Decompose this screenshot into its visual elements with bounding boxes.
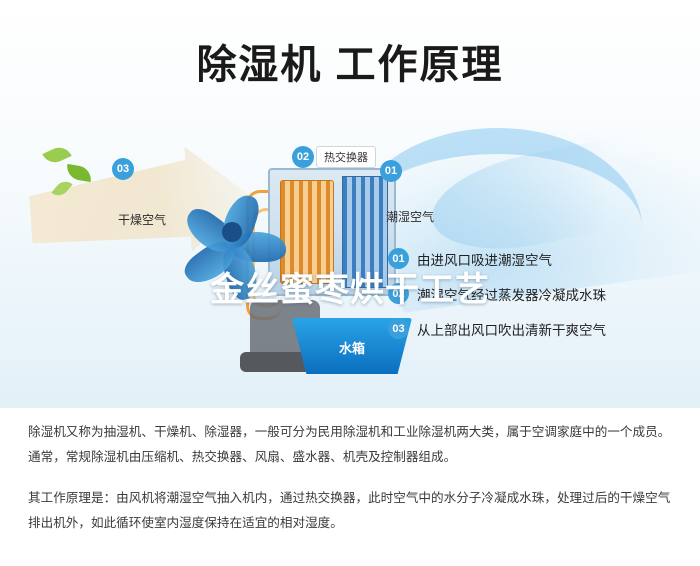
page-title-part1: 除湿机 (196, 43, 322, 87)
badge-03: 03 (112, 158, 134, 180)
step-text: 从上部出风口吹出清新干爽空气 (417, 319, 606, 339)
humid-air-label: 潮湿空气 (386, 208, 434, 225)
water-tank-label: 水箱 (316, 338, 388, 357)
page-title: 除湿机 工作原理 (0, 32, 700, 90)
watermark-text: 金丝蜜枣烘干工艺 (0, 262, 700, 311)
step-number: 03 (388, 318, 409, 339)
illustration-panel: 除湿机 工作原理 水箱 热交换器 02 01 03 (0, 0, 700, 408)
badge-01: 01 (380, 160, 402, 182)
fan-hub (222, 222, 242, 242)
page-title-part2: 工作原理 (322, 43, 503, 87)
leaf-icon (65, 164, 93, 182)
description-block: 除湿机又称为抽湿机、干燥机、除湿器，一般可分为民用除湿机和工业除湿机两大类，属于… (28, 420, 676, 536)
dry-air-label: 干燥空气 (118, 211, 166, 228)
list-item: 03 从上部出风口吹出清新干爽空气 (388, 318, 606, 339)
description-paragraph-1: 除湿机又称为抽湿机、干燥机、除湿器，一般可分为民用除湿机和工业除湿机两大类，属于… (28, 420, 676, 470)
heat-exchanger-callout: 热交换器 (316, 146, 376, 168)
description-paragraph-2: 其工作原理是：由风机将潮湿空气抽入机内，通过热交换器，此时空气中的水分子冷凝成水… (28, 486, 676, 536)
badge-02: 02 (292, 146, 314, 168)
page-root: 除湿机 工作原理 水箱 热交换器 02 01 03 (0, 0, 700, 566)
